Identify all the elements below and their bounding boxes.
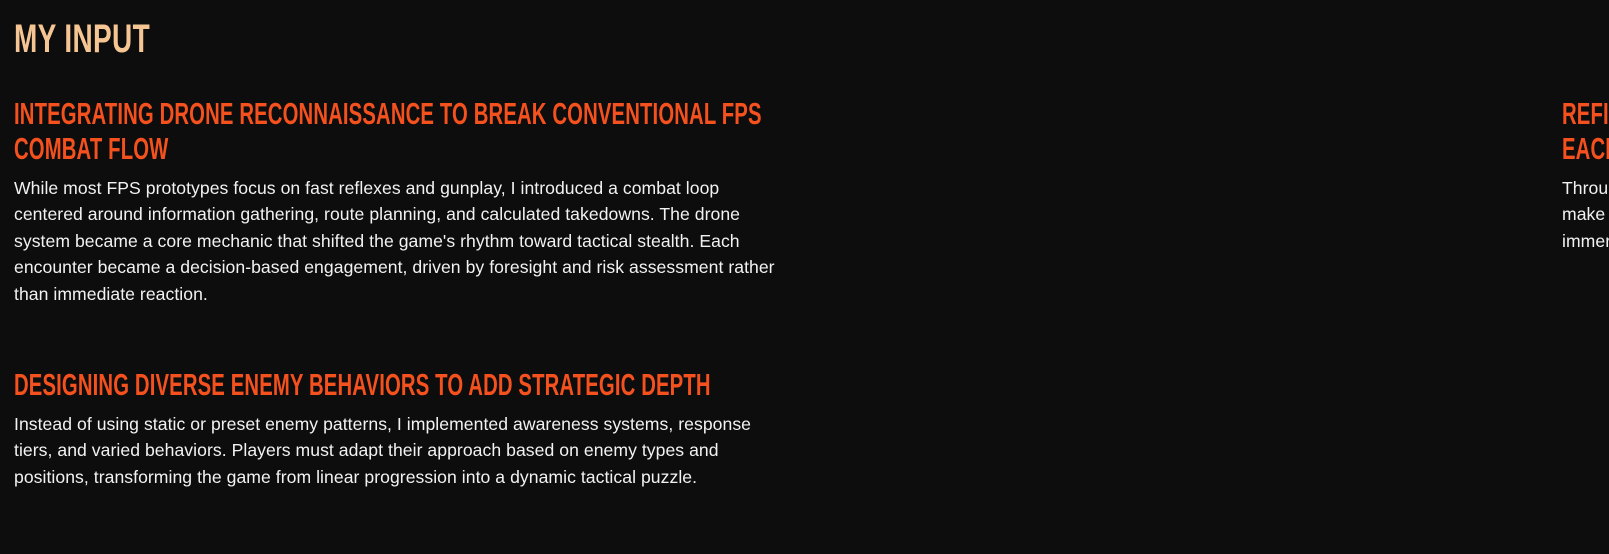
block-heading: DESIGNING DIVERSE ENEMY BEHAVIORS TO ADD… bbox=[14, 367, 780, 402]
page-title: MY INPUT bbox=[14, 17, 150, 61]
content-block: DESIGNING DIVERSE ENEMY BEHAVIORS TO ADD… bbox=[14, 367, 778, 490]
block-body: Through careful tuning of enemy reaction… bbox=[1562, 175, 1609, 254]
left-column: INTEGRATING DRONE RECONNAISSANCE TO BREA… bbox=[0, 96, 788, 490]
content-block: REFINING COMBAT FEEDBACK AND ENEMY RESPO… bbox=[1562, 96, 1585, 254]
block-heading: REFINING COMBAT FEEDBACK AND ENEMY RESPO… bbox=[1562, 96, 1609, 166]
right-column: REFINING COMBAT FEEDBACK AND ENEMY RESPO… bbox=[788, 96, 1609, 490]
content-block: INTEGRATING DRONE RECONNAISSANCE TO BREA… bbox=[14, 96, 778, 307]
block-body: While most FPS prototypes focus on fast … bbox=[14, 175, 782, 307]
block-body: Instead of using static or preset enemy … bbox=[14, 411, 782, 490]
block-heading: INTEGRATING DRONE RECONNAISSANCE TO BREA… bbox=[14, 96, 780, 166]
content-columns: INTEGRATING DRONE RECONNAISSANCE TO BREA… bbox=[0, 96, 1609, 490]
my-input-section: MY INPUT INTEGRATING DRONE RECONNAISSANC… bbox=[0, 0, 1609, 554]
